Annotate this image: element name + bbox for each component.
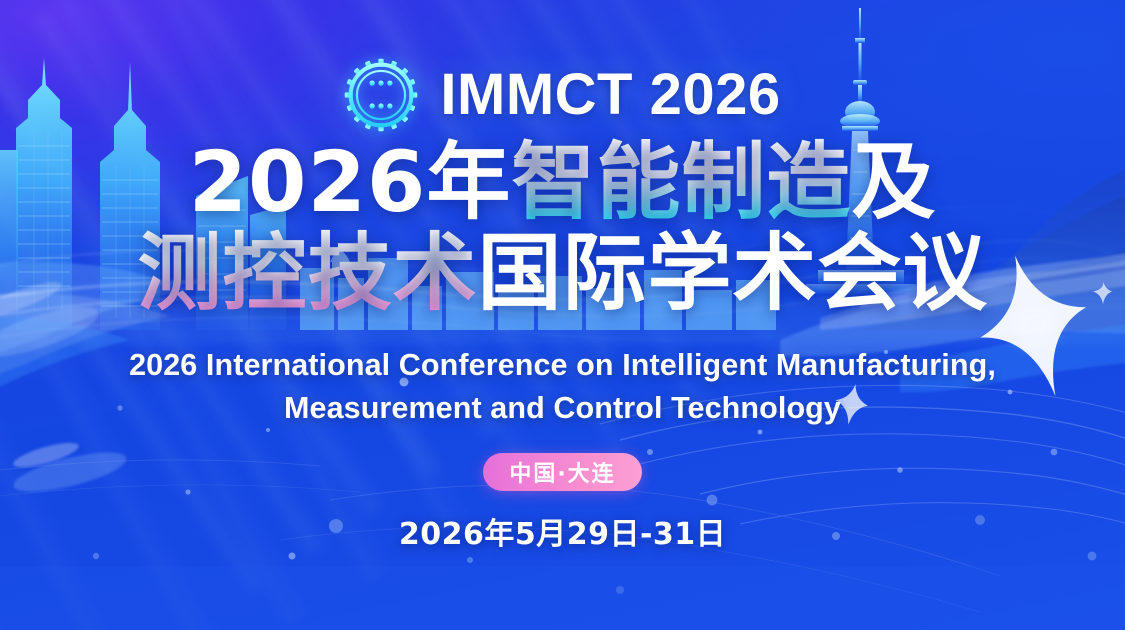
title-cn-line1-seg2: 智能制造 [511, 133, 851, 231]
title-cn-line1-seg1: 2026年 [189, 133, 512, 231]
location-badge: 中国·大连 [483, 453, 641, 491]
banner-content: IMMCT 2026 2026年智能制造及 测控技术国际学术会议 2026 In… [0, 0, 1125, 630]
gear-circuit-icon [344, 58, 418, 132]
subtitle-en-line1: 2026 International Conference on Intelli… [129, 344, 996, 387]
title-cn-line1: 2026年智能制造及 [189, 138, 937, 227]
brand-title: IMMCT 2026 [440, 66, 780, 124]
logo-row: IMMCT 2026 [344, 58, 780, 132]
title-cn-line2: 测控技术国际学术会议 [137, 229, 987, 318]
title-cn-line1-seg3: 及 [851, 133, 936, 231]
subtitle-en-line2: Measurement and Control Technology [129, 387, 996, 430]
conference-banner: IMMCT 2026 2026年智能制造及 测控技术国际学术会议 2026 In… [0, 0, 1125, 630]
subtitle-en: 2026 International Conference on Intelli… [129, 344, 996, 431]
date-text: 2026年5月29日-31日 [399, 509, 726, 553]
title-cn-line2-seg2: 国际学术会议 [478, 224, 988, 322]
title-cn-line2-seg1: 测控技术 [137, 224, 477, 322]
